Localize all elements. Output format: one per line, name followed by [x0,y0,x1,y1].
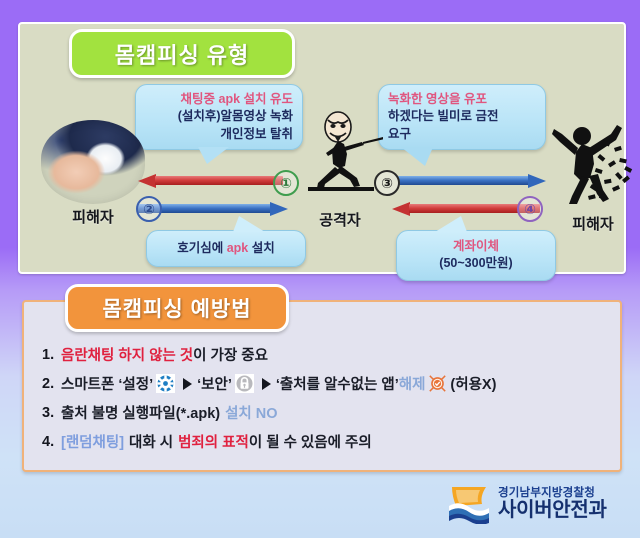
tip2-part5: (허용X) [450,373,496,394]
arrow-step1-left [138,174,283,187]
actor-victim-right: 피해자 [540,110,640,234]
prevention-tips-list: 1. 음란채팅 하지 않는 것 이 가장 중요 2. 스마트폰 ‘설정’ [42,340,610,456]
tip3-part2: 설치 NO [225,402,277,423]
tip3-number: 3. [42,405,61,421]
bubble1-tail [198,147,229,164]
speech-bubble-step3: 녹화한 영상을 유포 하겠다는 빌미로 금전 요구 [378,84,546,150]
tip2-number: 2. [42,376,61,392]
speech-bubble-step1: 채팅중 apk 설치 유도 (설치후)알몸영상 녹화 개인정보 탈취 [135,84,303,150]
arrow1-head [138,174,156,188]
bubble1-line1: 채팅중 apk 설치 유도 [145,91,293,108]
masked-fencer-icon [294,110,386,202]
tip4-part4: 이 될 수 있음에 주의 [249,431,372,452]
step-number-1: ① [273,170,299,196]
bubble1-line2: (설치후)알몸영상 녹화 [145,108,293,125]
bubble3-line1: 녹화한 영상을 유포 [388,91,536,108]
police-agency-logo: 경기남부지방경찰청 사이버안전과 [446,484,607,524]
arrow4-head [392,202,410,216]
logo-org-line2: 사이버안전과 [498,500,607,521]
tip3-part1: 출처 불명 실행파일(*.apk) [61,402,220,423]
actor-victim-left-label: 피해자 [34,206,152,227]
step-number-3: ③ [374,170,400,196]
arrow2-head [270,202,288,216]
arrow3-shaft [398,176,529,185]
tip2-part1: 스마트폰 ‘설정’ [61,373,153,394]
cancel-x-icon [428,374,447,393]
bubble4-tail [435,216,467,232]
person-scattering-money-icon [540,110,640,206]
tip1-part1: 음란채팅 하지 않는 것 [61,344,193,365]
bubble3-line2: 하겠다는 빌미로 금전 [388,108,536,125]
actor-victim-right-label: 피해자 [540,213,640,234]
actor-victim-left: 피해자 [34,120,152,227]
bubble2-tail [233,216,265,232]
arrow1-shaft [155,176,283,185]
prevention-tip-4: 4. [랜덤채팅] 대화 시 범죄의 표적 이 될 수 있음에 주의 [42,427,610,456]
arrow3-head [528,174,546,188]
logo-text-block: 경기남부지방경찰청 사이버안전과 [498,487,607,520]
bubble2-line1: 호기심에 apk 설치 [156,240,296,257]
bubble1-line3: 개인정보 탈취 [145,126,293,143]
actor-attacker-label: 공격자 [294,209,386,230]
tip4-number: 4. [42,434,61,450]
triangle-right-icon-2 [262,378,271,390]
bubble4-line1: 계좌이체 [406,238,546,255]
prevention-section-title: 몸캠피싱 예방법 [65,284,289,332]
prevention-tip-1: 1. 음란채팅 하지 않는 것 이 가장 중요 [42,340,610,369]
victim-phone-photo-icon [41,120,145,204]
tip2-part3: ‘출처를 알수없는 앱’ [276,373,399,394]
bubble4-line2: (50~300만원) [406,255,546,272]
actor-attacker: 공격자 [294,110,386,230]
step-number-4: ④ [517,196,543,222]
infographic-page: 몸캠피싱 유형 채팅중 apk 설치 유도 (설치후)알몸영상 녹화 개인정보 … [0,0,640,538]
speech-bubble-step4: 계좌이체 (50~300만원) [396,230,556,281]
logo-org-line1: 경기남부지방경찰청 [498,487,607,499]
tip2-part2: ‘보안’ [197,373,232,394]
lock-icon [235,374,254,393]
tip4-part3: 범죄의 표적 [178,431,249,452]
bubble3-tail [401,147,433,166]
tip4-part1: [랜덤채팅] [61,431,124,452]
bubble2-keyword-apk: apk [227,241,249,255]
step-number-2: ② [136,196,162,222]
tip1-part2: 이 가장 중요 [193,344,268,365]
tip4-part2: 대화 시 [129,431,173,452]
gear-icon [156,374,175,393]
speech-bubble-step2: 호기심에 apk 설치 [146,230,306,267]
prevention-tip-3: 3. 출처 불명 실행파일(*.apk) 설치 NO [42,398,610,427]
bubble3-line3: 요구 [388,126,536,143]
type-section-title: 몸캠피싱 유형 [69,29,295,78]
tip2-part4: 해제 [399,373,426,394]
phishing-type-panel: 몸캠피싱 유형 채팅중 apk 설치 유도 (설치후)알몸영상 녹화 개인정보 … [18,22,626,274]
wave-shield-icon [446,484,492,524]
triangle-right-icon-1 [183,378,192,390]
prevention-tip-2: 2. 스마트폰 ‘설정’ [42,369,610,398]
tip1-number: 1. [42,347,61,363]
arrow-step3-right [398,174,546,187]
prevention-panel: 몸캠피싱 예방법 1. 음란채팅 하지 않는 것 이 가장 중요 2. 스마트폰… [22,300,622,472]
